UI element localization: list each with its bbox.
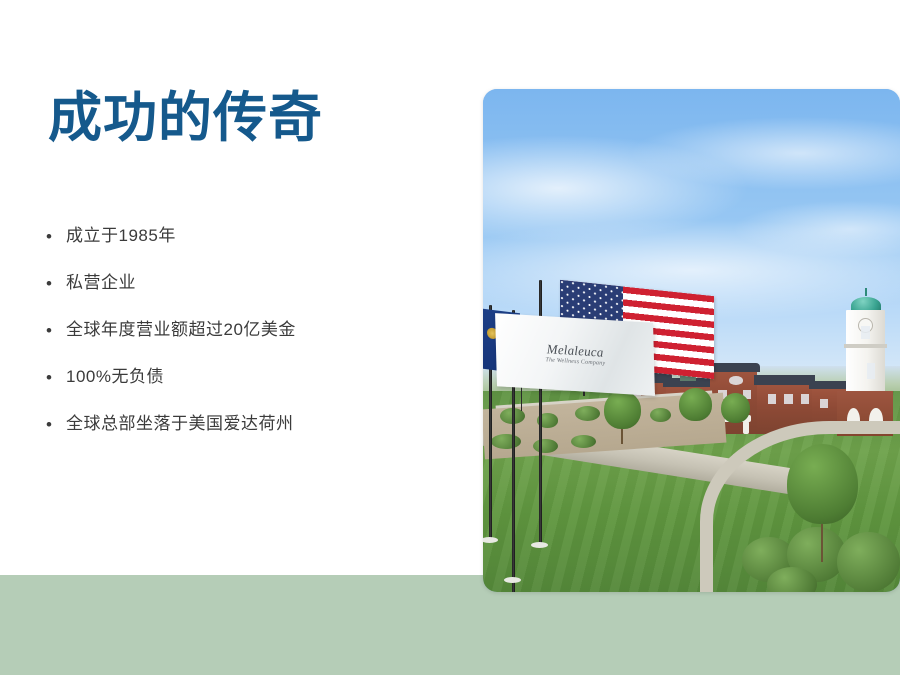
list-item-label: 成立于1985年 [66, 226, 446, 246]
campus-photo-content: Melaleuca The Wellness Company [483, 89, 900, 592]
list-item: • 私营企业 [46, 273, 446, 320]
flagpole-base [483, 537, 498, 543]
text-column: 成功的传奇 • 成立于1985年 • 私营企业 • 全球年度营业额超过20亿美金… [0, 0, 470, 675]
list-item: • 全球年度营业额超过20亿美金 [46, 320, 446, 367]
tree-canopy [721, 393, 750, 423]
shrub [571, 435, 596, 448]
bullet-dot-icon: • [46, 367, 66, 386]
page-title: 成功的传奇 [48, 88, 323, 148]
bullet-dot-icon: • [46, 226, 66, 245]
melaleuca-flag: Melaleuca The Wellness Company [495, 313, 655, 396]
tree-canopy [679, 388, 712, 421]
shrub [533, 439, 558, 453]
list-item-label: 全球总部坐落于美国爱达荷州 [66, 414, 446, 434]
slide: 成功的传奇 • 成立于1985年 • 私营企业 • 全球年度营业额超过20亿美金… [0, 0, 900, 675]
flagpole-base [531, 542, 548, 548]
shrub [837, 532, 900, 592]
campus-photo: Melaleuca The Wellness Company [483, 89, 900, 592]
shrub [575, 406, 600, 421]
list-item-label: 100%无负债 [66, 367, 446, 387]
rose-window [729, 376, 743, 384]
flagpole-base [504, 577, 521, 583]
window [784, 394, 792, 404]
tower-finial-icon [865, 288, 867, 296]
window [768, 394, 776, 404]
bullet-dot-icon: • [46, 273, 66, 292]
shrub [650, 408, 671, 422]
tower-window [867, 363, 875, 379]
roof-center [707, 363, 759, 372]
bullet-list: • 成立于1985年 • 私营企业 • 全球年度营业额超过20亿美金 • 100… [46, 226, 446, 461]
shrub [491, 434, 520, 449]
bullet-dot-icon: • [46, 414, 66, 433]
bullet-dot-icon: • [46, 320, 66, 339]
list-item: • 100%无负债 [46, 367, 446, 414]
tree-canopy [604, 391, 642, 429]
tower-window [861, 326, 869, 339]
window [801, 394, 809, 404]
melaleuca-wordmark: Melaleuca [546, 342, 603, 358]
list-item-label: 全球年度营业额超过20亿美金 [66, 320, 446, 340]
list-item-label: 私营企业 [66, 273, 446, 293]
tower-balcony [844, 344, 887, 348]
roof-right [754, 375, 815, 385]
list-item: • 全球总部坐落于美国爱达荷州 [46, 414, 446, 461]
tree-canopy [787, 444, 858, 524]
portico-column [743, 421, 749, 434]
list-item: • 成立于1985年 [46, 226, 446, 273]
window [820, 399, 828, 408]
